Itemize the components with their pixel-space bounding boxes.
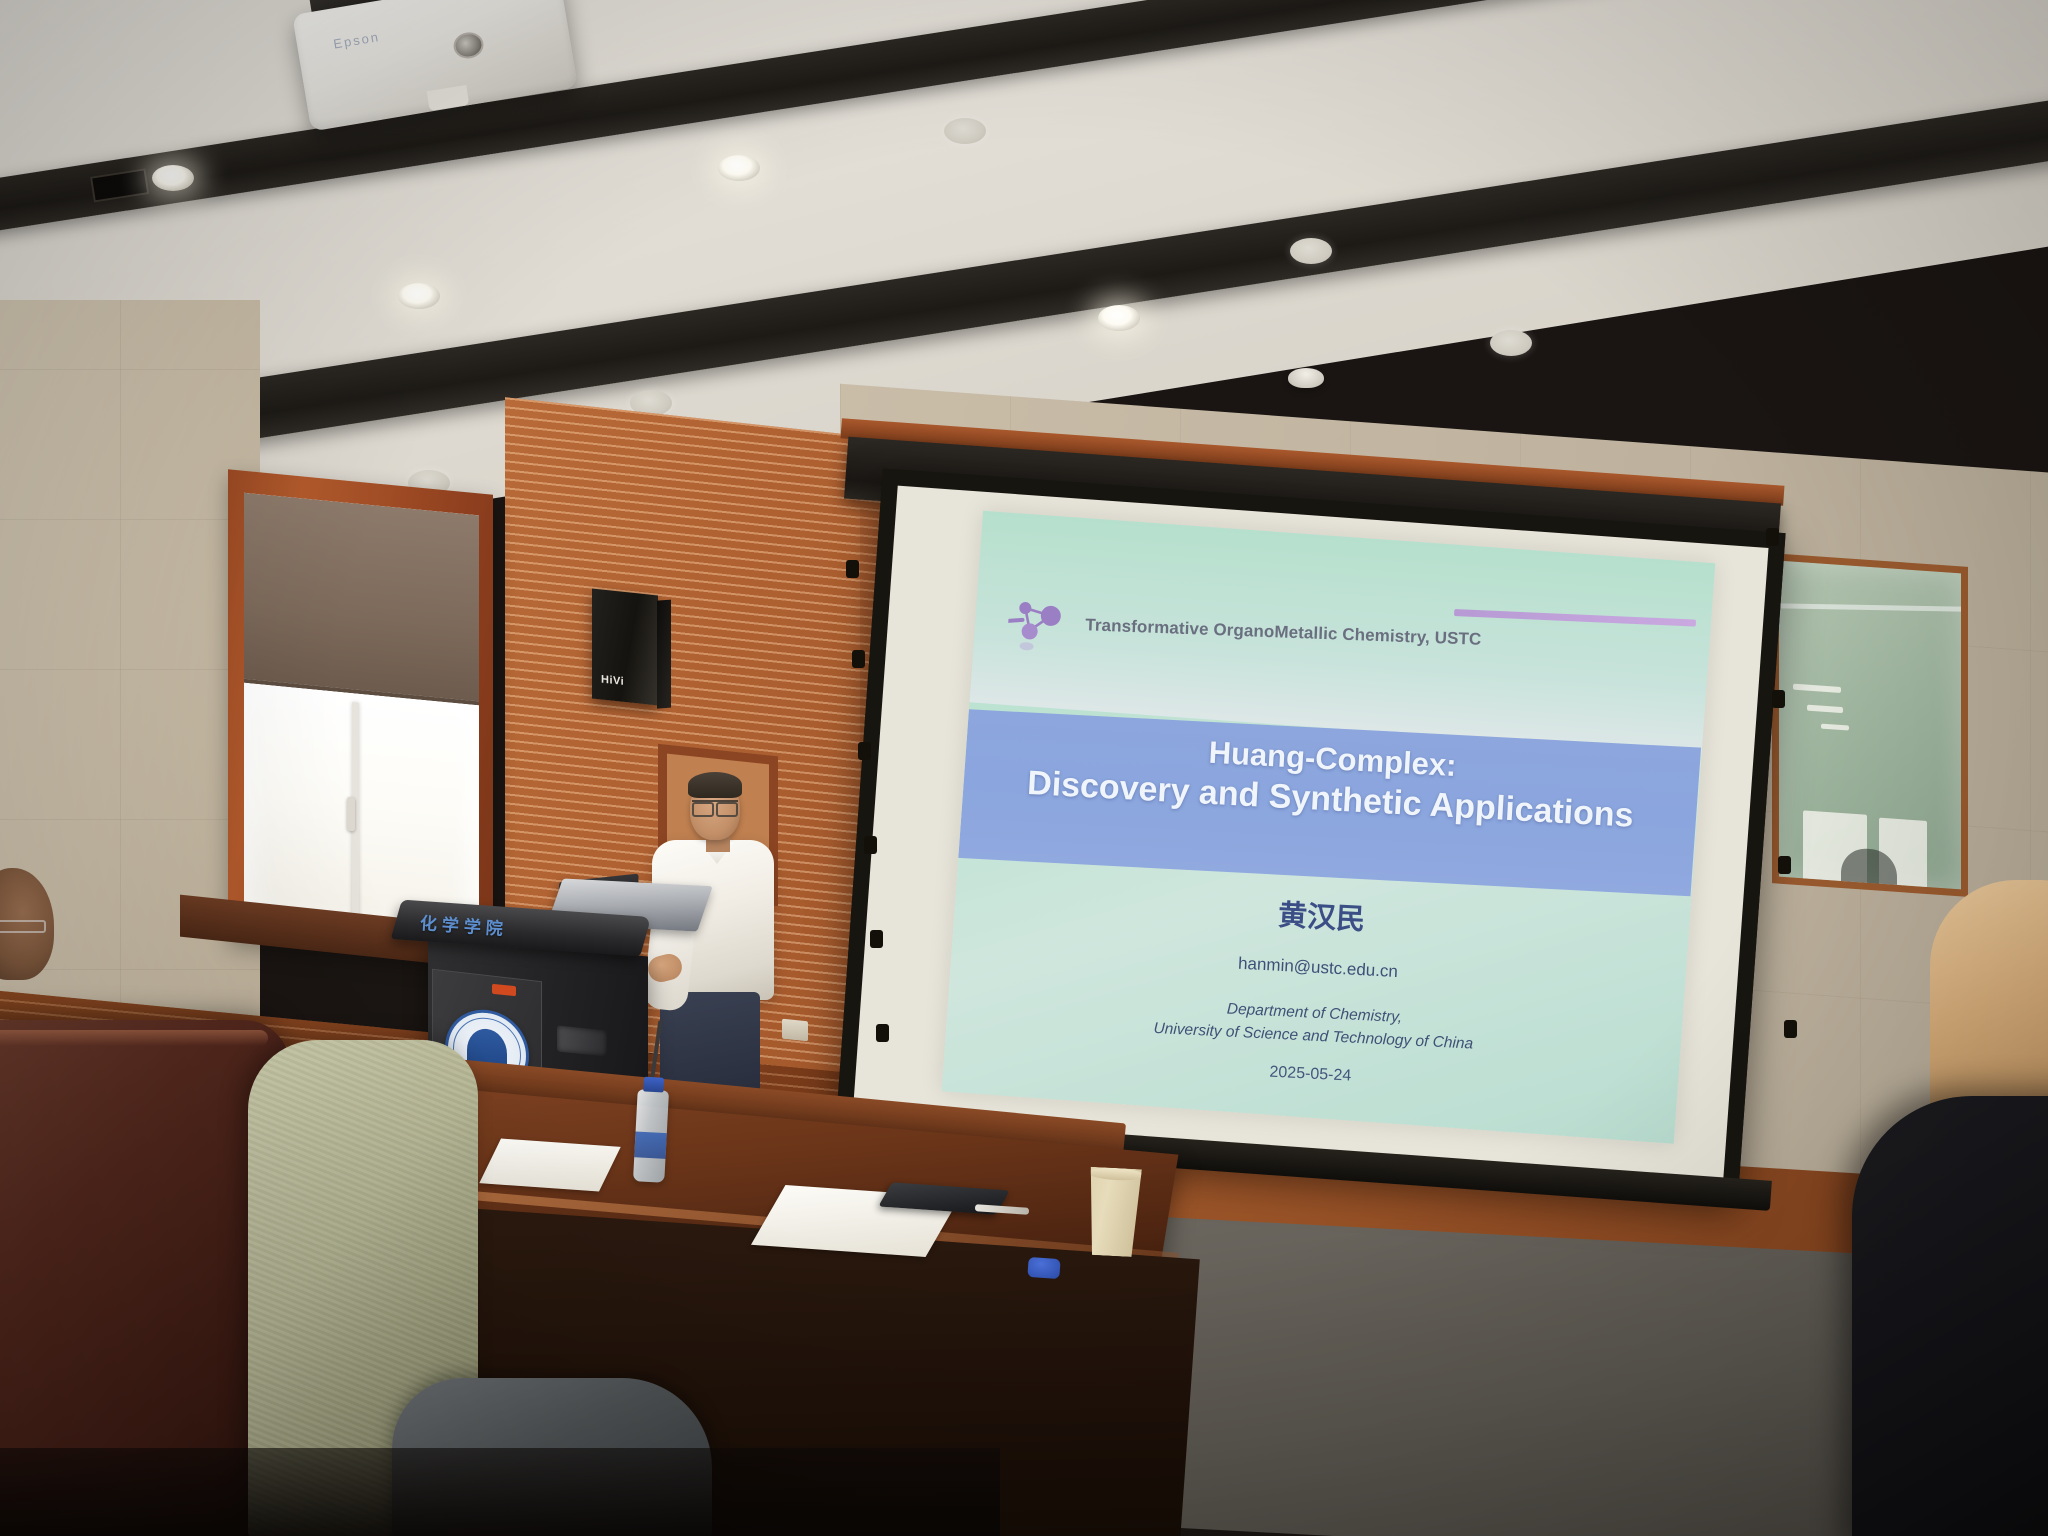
screen-side-clip [1766, 528, 1779, 546]
wall-speaker-brand-label: HiVi [601, 673, 624, 687]
lectern-port-panel[interactable] [557, 1025, 607, 1056]
downlight [1290, 238, 1332, 264]
blue-bottle-cap[interactable] [1027, 1257, 1060, 1279]
screen-surface: Transformative OrganoMetallic Chemistry,… [852, 486, 1768, 1180]
screen-side-clip [876, 1024, 889, 1042]
wall-speaker: HiVi [592, 589, 658, 706]
window-handle[interactable] [347, 796, 355, 831]
projector-lens-icon [452, 30, 486, 61]
glass-reflection [1793, 684, 1841, 693]
molecule-icon [1007, 589, 1073, 655]
downlight [718, 155, 760, 181]
downlight [1098, 305, 1140, 331]
glass-reflection [1821, 724, 1849, 731]
projection-screen: Transformative OrganoMetallic Chemistry,… [835, 468, 1785, 1196]
foreground-shadow [0, 1448, 1000, 1536]
screen-side-clip [1784, 1020, 1797, 1038]
water-bottle[interactable] [633, 1089, 669, 1183]
downlight [1490, 330, 1532, 356]
screen-side-clip [852, 650, 865, 668]
foreground-person-shoulder [1852, 1096, 2048, 1536]
screen-side-clip [864, 836, 877, 854]
presentation-slide: Transformative OrganoMetallic Chemistry,… [942, 511, 1715, 1144]
screen-side-clip [870, 930, 883, 948]
projector-brand-label: Epson [332, 29, 381, 52]
bottle-label [634, 1132, 667, 1159]
bottle-cap-icon [643, 1077, 664, 1093]
window-roller-blind[interactable] [244, 493, 479, 706]
downlight [398, 283, 440, 309]
beam-spot-fixture [90, 168, 149, 202]
presenter-hair [688, 772, 742, 798]
screen-side-clip [858, 742, 871, 760]
glass-reflection [1807, 705, 1843, 714]
document-sheet[interactable] [479, 1139, 620, 1192]
downlight [944, 118, 986, 144]
screen-side-clip [846, 560, 859, 578]
lecture-hall-photo: Epson HiVi [0, 0, 2048, 1536]
downlight [152, 165, 194, 191]
glass-partition-panel [1772, 553, 1968, 897]
window-inner [244, 493, 479, 948]
screen-side-clip [1772, 690, 1785, 708]
smoke-detector-icon [1288, 368, 1324, 388]
wall-power-socket [782, 1019, 808, 1042]
eyeglasses-icon [0, 920, 46, 933]
eyeglasses-icon [692, 800, 738, 812]
window [228, 469, 493, 965]
screen-side-clip [1778, 856, 1791, 874]
